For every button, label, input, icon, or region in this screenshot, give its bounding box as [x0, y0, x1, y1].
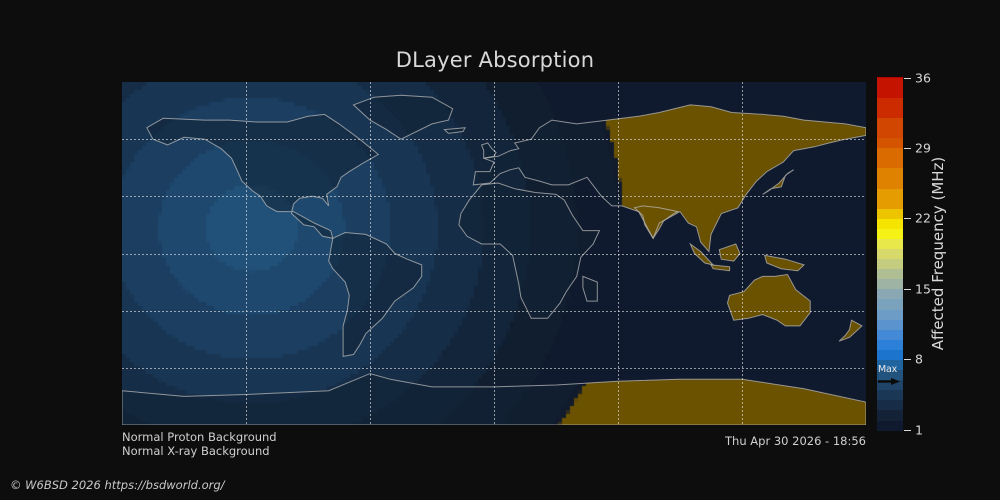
colorbar-tick: [904, 359, 911, 360]
colorbar-band: [877, 299, 903, 310]
arrow-right-icon: [878, 378, 900, 385]
gridline-longitude: [742, 82, 743, 425]
status-xray-background: Normal X-ray Background: [122, 444, 270, 458]
gridline-longitude: [494, 82, 495, 425]
status-proton-background: Normal Proton Background: [122, 430, 277, 444]
colorbar-tick: [904, 78, 911, 79]
colorbar-band: [877, 238, 903, 249]
colorbar-max-label: Max: [878, 365, 897, 375]
colorbar-band: [877, 248, 903, 259]
dlayer-absorption-screen: DLayer Absorption Max 1815222936 Affecte…: [0, 0, 1000, 500]
colorbar-tick: [904, 289, 911, 290]
colorbar-band: [877, 349, 903, 360]
colorbar-tick: [904, 148, 911, 149]
colorbar[interactable]: Max 1815222936: [877, 77, 903, 430]
colorbar-axis-label: Affected Frequency (MHz): [925, 77, 951, 430]
colorbar-band: [877, 138, 903, 149]
colorbar-tick: [904, 218, 911, 219]
colorbar-band: [877, 400, 903, 411]
colorbar-band: [877, 390, 903, 401]
colorbar-band: [877, 329, 903, 340]
timestamp-label: Thu Apr 30 2026 - 18:56: [725, 434, 866, 448]
colorbar-band: [877, 117, 903, 138]
world-map-panel[interactable]: [122, 82, 866, 425]
colorbar-band: [877, 289, 903, 300]
colorbar-band: [877, 269, 903, 280]
footer-credit: © W6BSD 2026 https://bsdworld.org/: [10, 478, 225, 492]
gridline-longitude: [370, 82, 371, 425]
colorbar-band: [877, 208, 903, 219]
colorbar-band: [877, 77, 903, 98]
map-gridlines: [122, 82, 866, 425]
colorbar-band: [877, 259, 903, 270]
colorbar-band: [877, 319, 903, 330]
colorbar-band: [877, 218, 903, 229]
colorbar-band: [877, 77, 903, 78]
gridline-longitude: [618, 82, 619, 425]
colorbar-tick-label: 1: [915, 422, 923, 437]
colorbar-band: [877, 168, 903, 189]
colorbar-tick: [904, 430, 911, 431]
colorbar-band: [877, 97, 903, 118]
colorbar-band: [877, 148, 903, 169]
colorbar-band: [877, 279, 903, 290]
colorbar-band: [877, 188, 903, 209]
colorbar-band: [877, 309, 903, 320]
colorbar-band: [877, 339, 903, 350]
colorbar-max-marker: Max: [877, 366, 903, 388]
colorbar-band: [877, 410, 903, 421]
gridline-longitude: [246, 82, 247, 425]
colorbar-band: [877, 420, 903, 431]
colorbar-band: [877, 228, 903, 239]
page-title: DLayer Absorption: [0, 48, 990, 72]
colorbar-tick-label: 8: [915, 352, 923, 367]
